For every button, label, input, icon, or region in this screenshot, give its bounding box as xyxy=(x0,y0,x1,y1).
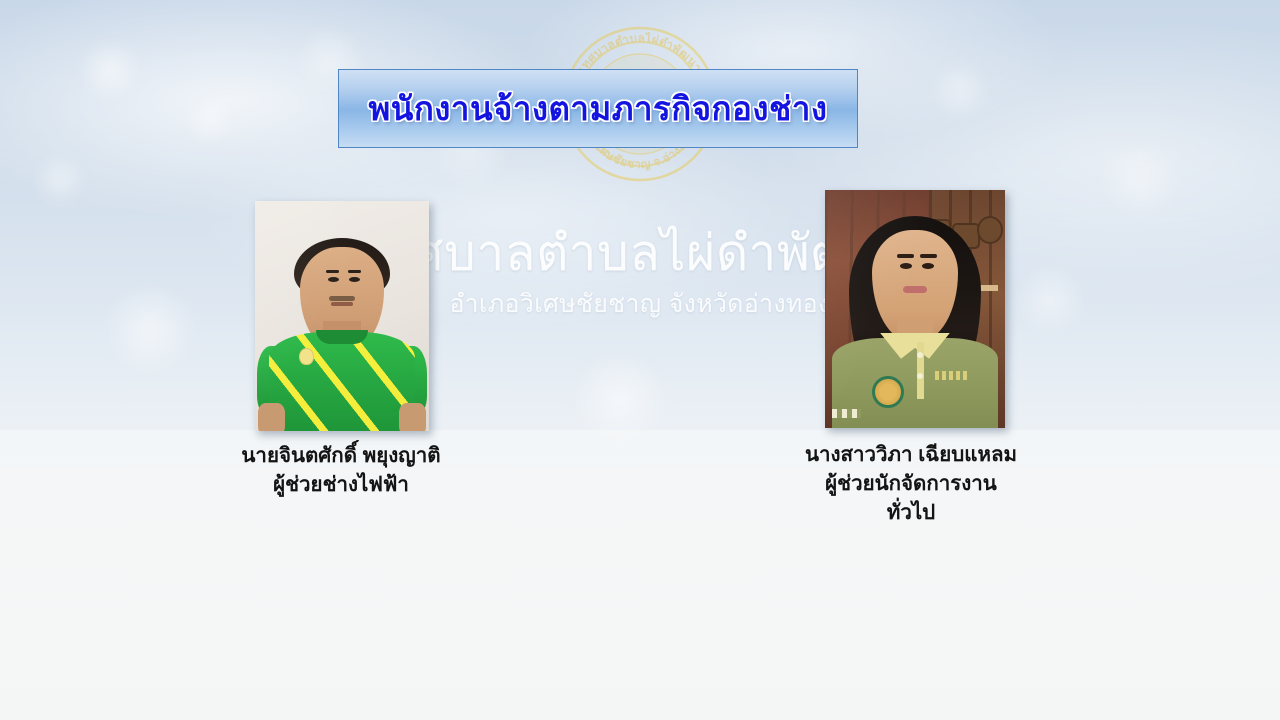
staff-name-right: นางสาววิภา เฉียบแหลม xyxy=(781,440,1041,469)
staff-name-left: นายจินตศักดิ์ พยุงญาติ xyxy=(211,441,471,470)
slide-canvas: เทศบาลตำบลไผ่ดำพัฒนา อ.วิเศษชัยชาญ จ.อ่า… xyxy=(0,0,1280,720)
watermark-location: อำเภอวิเศษชัยชาญ จังหวัดอ่างทอง xyxy=(0,284,1280,324)
photo-sheen xyxy=(255,201,429,431)
staff-photo-left[interactable] xyxy=(255,201,429,431)
photo-sheen xyxy=(825,190,1005,428)
staff-position-right-line1: ผู้ช่วยนักจัดการงาน xyxy=(781,469,1041,498)
staff-position-right-line2: ทั่วไป xyxy=(781,498,1041,527)
page-title: พนักงานจ้างตามภารกิจกองช่าง xyxy=(369,82,828,135)
watermark-organization-name: เทศบาลตำบลไผ่ดำพัฒนา xyxy=(0,214,1280,293)
municipality-background-photo xyxy=(0,430,1280,720)
staff-photo-right[interactable] xyxy=(825,190,1005,428)
staff-position-left-line1: ผู้ช่วยช่างไฟฟ้า xyxy=(211,470,471,499)
title-banner: พนักงานจ้างตามภารกิจกองช่าง xyxy=(338,69,858,148)
